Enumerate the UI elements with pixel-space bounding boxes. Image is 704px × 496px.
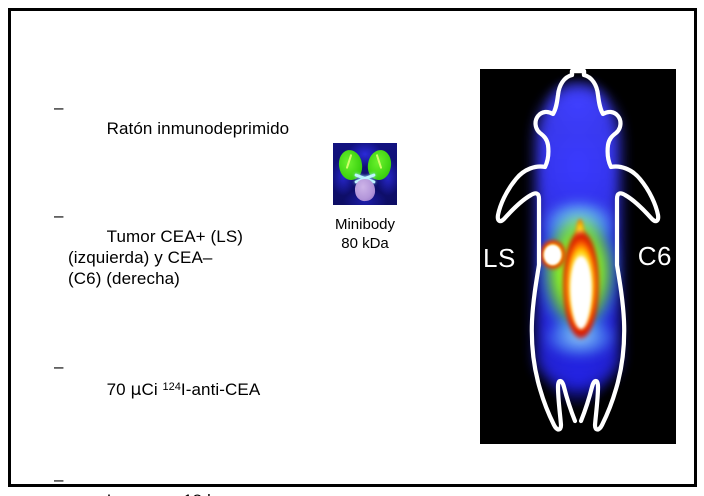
bullet-dash: – xyxy=(54,356,64,377)
minibody-caption-mass: 80 kDa xyxy=(317,234,413,253)
bullet-dash: – xyxy=(54,469,64,490)
slide-frame-border: –Ratón inmunodeprimido –Tumor CEA+ (LS) … xyxy=(8,8,697,487)
isotope-mass-number: 124 xyxy=(163,381,181,393)
bullet-text: Imagen a 18 hr xyxy=(107,491,223,496)
bullet-dash: – xyxy=(54,205,64,226)
tumor-label-ls: LS xyxy=(483,245,516,271)
dose-unit: Ci xyxy=(141,380,162,399)
bullet-item-subject: –Ratón inmunodeprimido xyxy=(54,97,319,160)
tumor-label-c6: C6 xyxy=(638,243,672,269)
bullet-list: –Ratón inmunodeprimido –Tumor CEA+ (LS) … xyxy=(54,97,319,496)
minibody-caption: Minibody 80 kDa xyxy=(317,215,413,253)
bullet-text: Tumor CEA+ (LS) (izquierda) y CEA– (C6) … xyxy=(68,227,243,288)
slide-root: –Ratón inmunodeprimido –Tumor CEA+ (LS) … xyxy=(0,0,704,496)
bullet-item-tumor: –Tumor CEA+ (LS) (izquierda) y CEA– (C6)… xyxy=(54,205,319,310)
dose-value: 70 xyxy=(107,380,131,399)
pet-scan-panel: LS C6 xyxy=(480,69,676,444)
bullet-dash: – xyxy=(54,97,64,118)
minibody-caption-name: Minibody xyxy=(317,215,413,234)
bullet-text: Ratón inmunodeprimido xyxy=(107,119,290,138)
tracer-name: I-anti-CEA xyxy=(181,380,260,399)
minibody-molecular-model-image xyxy=(333,143,397,205)
bullet-item-timepoint: –Imagen a 18 hr xyxy=(54,469,319,496)
micro-symbol: μ xyxy=(131,380,142,400)
bullet-item-dose: –70 μCi 124I-anti-CEA xyxy=(54,356,319,422)
minibody-figure: Minibody 80 kDa xyxy=(317,143,413,253)
